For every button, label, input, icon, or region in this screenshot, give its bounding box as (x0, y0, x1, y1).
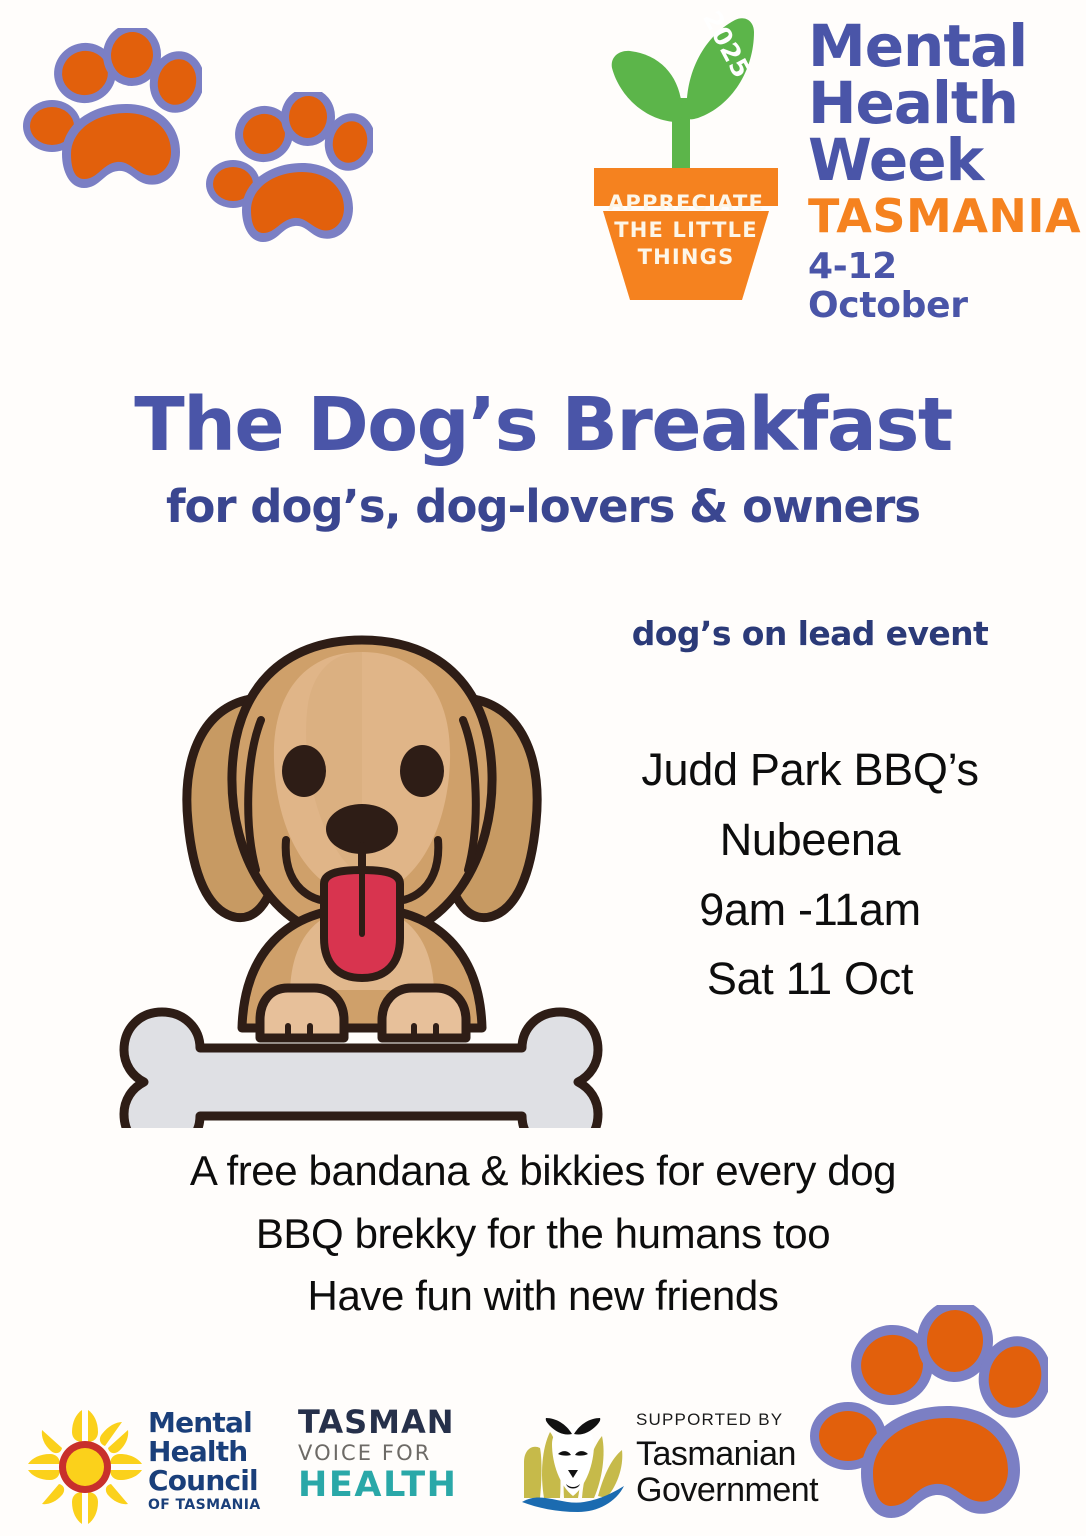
event-detail-time: 9am -11am (560, 875, 1060, 945)
event-detail-venue: Judd Park BBQ’s (560, 735, 1060, 805)
lead-event-note: dog’s on lead event (560, 614, 1060, 653)
logo-word-health: Health (808, 75, 1058, 132)
tasmanian-tiger-crest-icon (518, 1410, 628, 1516)
mhct-line-1: Mental (148, 1408, 278, 1437)
tasman-voice-for-health-logo: TASMAN VOICE FOR HEALTH (298, 1406, 484, 1518)
blurb-line-2: BBQ brekky for the humans too (0, 1203, 1086, 1266)
tvfh-line-2: VOICE FOR (298, 1440, 484, 1467)
event-detail-suburb: Nubeena (560, 805, 1060, 875)
mental-health-council-logo: Mental Health Council OF TASMANIA (24, 1396, 276, 1532)
logo-word-mental: Mental (808, 18, 1058, 75)
mental-health-week-logo: 2025 APPRECIATE THE LITTLE THINGS Mental… (586, 8, 1056, 308)
supported-by-label: SUPPORTED BY (636, 1410, 783, 1430)
mhct-line-3: Council (148, 1466, 278, 1495)
blurb-line-1: A free bandana & bikkies for every dog (0, 1140, 1086, 1203)
event-blurb: A free bandana & bikkies for every dog B… (0, 1140, 1086, 1328)
tasgov-line-2: Government (636, 1472, 818, 1508)
page-subtitle: for dog’s, dog-lovers & owners (0, 484, 1086, 529)
mhct-subline: OF TASMANIA (148, 1498, 278, 1513)
mhct-wordmark: Mental Health Council OF TASMANIA (148, 1408, 278, 1513)
sun-icon (24, 1406, 146, 1528)
tvfh-line-3: HEALTH (298, 1467, 484, 1504)
dog-eye-left (282, 745, 326, 797)
event-detail-date: Sat 11 Oct (560, 944, 1060, 1014)
dog-paw-left (260, 988, 344, 1038)
dog-paw-right (382, 988, 466, 1038)
pot-tagline-line-3: THINGS (601, 244, 771, 271)
tasgov-line-1: Tasmanian (636, 1436, 818, 1472)
paw-print-icon (22, 28, 202, 203)
poster-canvas: 2025 APPRECIATE THE LITTLE THINGS Mental… (0, 0, 1086, 1536)
tvfh-line-1: TASMAN (298, 1406, 484, 1440)
logo-word-tasmania: TASMANIA (808, 192, 1058, 240)
logo-dates: 4-12 October (808, 247, 1058, 326)
footer-logos: Mental Health Council OF TASMANIA TASMAN… (0, 1392, 1086, 1536)
pot-tagline: APPRECIATE THE LITTLE THINGS (601, 190, 771, 271)
pot-tagline-line-2: THE LITTLE (601, 217, 771, 244)
logo-wordmark: Mental Health Week TASMANIA 4-12 October (808, 18, 1058, 326)
paw-print-icon (205, 92, 373, 255)
tasgov-wordmark: Tasmanian Government (636, 1436, 818, 1508)
tasmanian-government-logo: SUPPORTED BY Tasmanian Government (518, 1398, 818, 1530)
dog-eye-right (400, 745, 444, 797)
logo-word-week: Week (808, 132, 1058, 189)
pot-tagline-line-1: APPRECIATE (601, 190, 771, 217)
dog-with-bone-illustration (96, 608, 626, 1128)
mhct-line-2: Health (148, 1437, 278, 1466)
event-details: Judd Park BBQ’s Nubeena 9am -11am Sat 11… (560, 735, 1060, 1014)
page-title: The Dog’s Breakfast (0, 388, 1086, 462)
